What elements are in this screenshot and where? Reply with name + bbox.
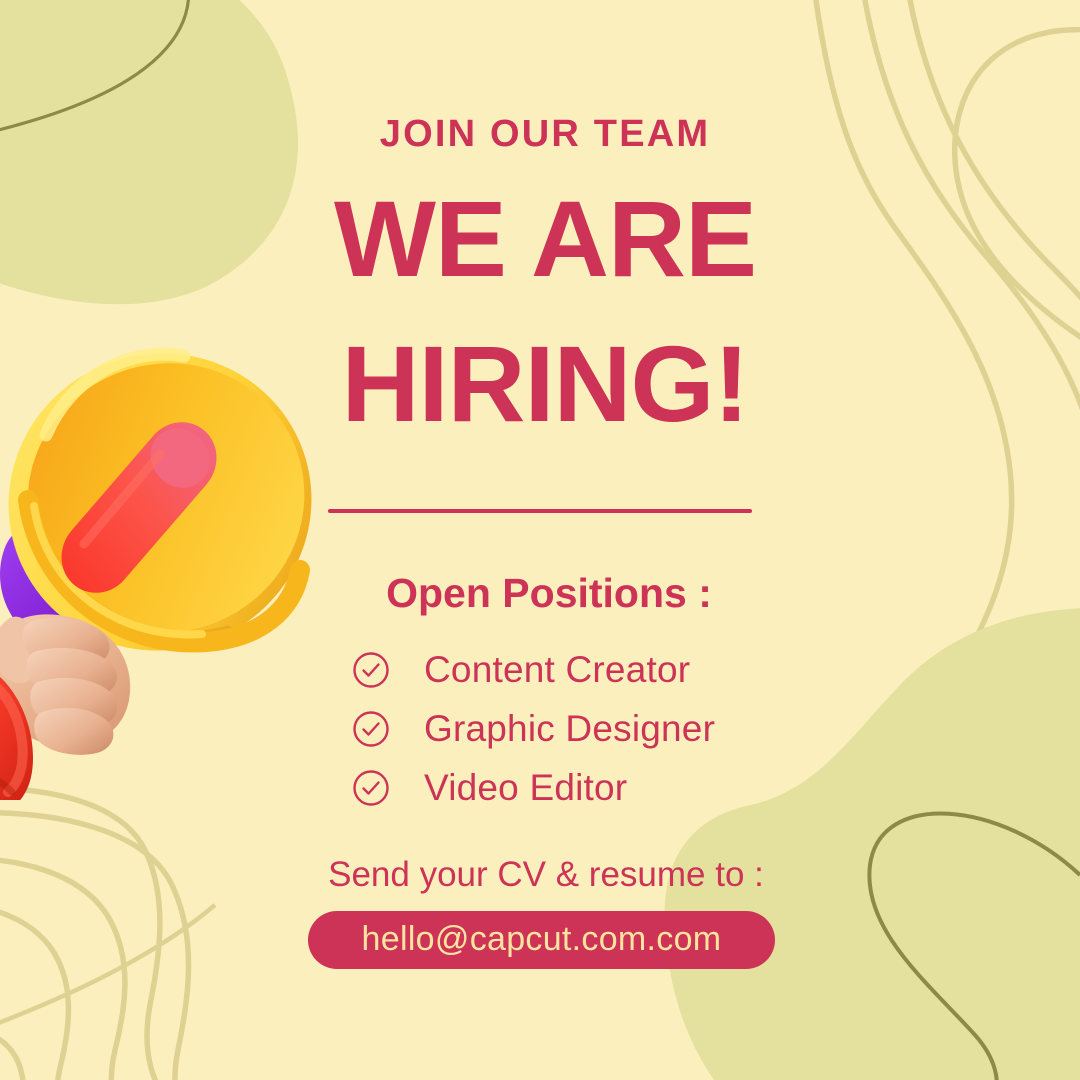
position-label: Content Creator [424,649,690,691]
divider-rule [328,509,752,513]
position-label: Graphic Designer [424,708,715,750]
headline-line-2: HIRING! [0,330,1080,438]
poster-content: JOIN OUR TEAM WE ARE HIRING! Open Positi… [0,0,1080,1080]
open-positions-title: Open Positions : [0,570,1080,617]
headline-line-1: WE ARE [0,185,1080,293]
open-positions-list: Content Creator Graphic Designer Video E… [352,640,832,817]
email-contact-pill[interactable]: hello@capcut.com.com [308,911,775,969]
check-circle-icon [352,710,390,748]
check-circle-icon [352,769,390,807]
check-circle-icon [352,651,390,689]
list-item: Video Editor [352,758,832,817]
hiring-poster: JOIN OUR TEAM WE ARE HIRING! Open Positi… [0,0,1080,1080]
email-address: hello@capcut.com.com [362,920,722,961]
list-item: Graphic Designer [352,699,832,758]
position-label: Video Editor [424,767,627,809]
send-cv-text: Send your CV & resume to : [0,855,1080,895]
list-item: Content Creator [352,640,832,699]
eyebrow-text: JOIN OUR TEAM [0,113,1080,156]
